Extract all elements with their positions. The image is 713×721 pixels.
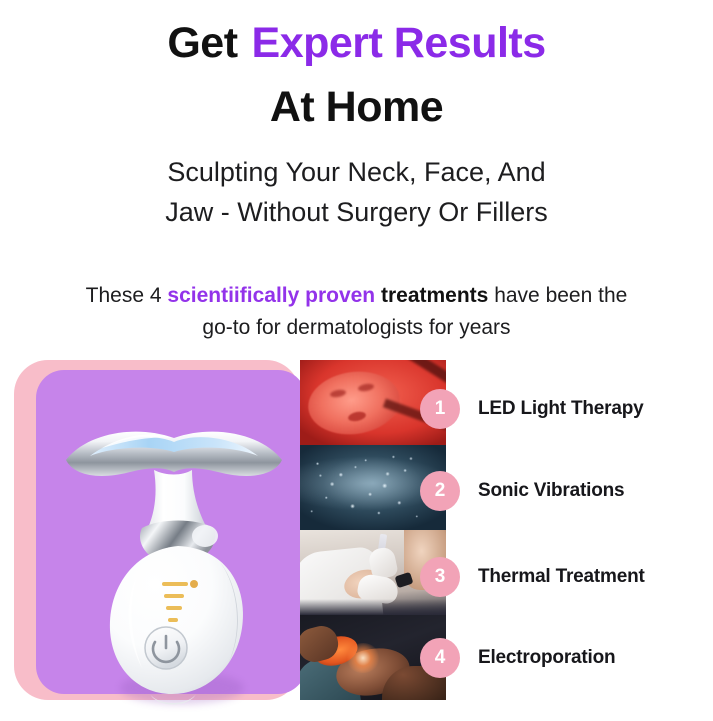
subheading-block: Sculpting Your Neck, Face, And Jaw - Wit…: [0, 152, 713, 232]
treatment-list: 1 LED Light Therapy 2 Sonic Vibrations 3…: [420, 360, 713, 700]
promo-page: GetExpert Results At Home Sculpting Your…: [0, 0, 713, 713]
treatment-badge-4: 4: [420, 638, 460, 678]
subheading-line-1: Sculpting Your Neck, Face, And: [0, 152, 713, 192]
device-head: [66, 432, 282, 476]
proof-prefix-text: These 4: [86, 284, 162, 307]
proof-accent-text: scientiifically proven: [167, 284, 375, 307]
proof-strong-text: treatments: [381, 284, 488, 307]
headline-get-text: Get: [167, 19, 237, 67]
headline-expert-results-text: Expert Results: [252, 19, 546, 67]
headline-block: GetExpert Results At Home: [0, 18, 713, 132]
treatment-label-1: LED Light Therapy: [478, 398, 644, 420]
treatment-item-4[interactable]: 4 Electroporation: [420, 632, 615, 684]
product-card-frame: [14, 360, 300, 700]
proof-line-1: These 4 scientiifically proven treatment…: [0, 280, 713, 312]
treatment-badge-3: 3: [420, 557, 460, 597]
treatment-label-3: Thermal Treatment: [478, 566, 645, 588]
proof-line-2: go-to for dermatologists for years: [0, 312, 713, 344]
treatment-item-1[interactable]: 1 LED Light Therapy: [420, 383, 644, 435]
proof-suffix-text: have been the: [494, 284, 627, 307]
headline-line-2: At Home: [0, 82, 713, 132]
treatment-badge-1: 1: [420, 389, 460, 429]
treatment-badge-2: 2: [420, 471, 460, 511]
treatment-label-4: Electroporation: [478, 647, 615, 669]
treatment-item-3[interactable]: 3 Thermal Treatment: [420, 551, 645, 603]
subheading-line-2: Jaw - Without Surgery Or Fillers: [0, 192, 713, 232]
sculpting-device-illustration: [42, 376, 306, 721]
lower-composition: 1 LED Light Therapy 2 Sonic Vibrations 3…: [0, 358, 713, 713]
device-collar-highlight: [192, 525, 218, 547]
headline-line-1: GetExpert Results: [0, 18, 713, 68]
treatment-label-2: Sonic Vibrations: [478, 480, 624, 502]
treatment-item-2[interactable]: 2 Sonic Vibrations: [420, 465, 624, 517]
product-card-background: [36, 370, 306, 694]
electro-photo-light-glow: [346, 643, 380, 673]
proof-line-block: These 4 scientiifically proven treatment…: [0, 280, 713, 344]
